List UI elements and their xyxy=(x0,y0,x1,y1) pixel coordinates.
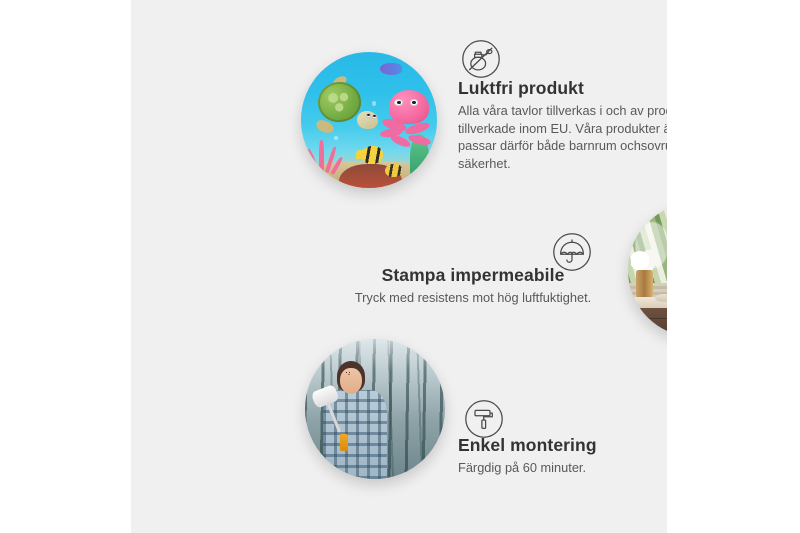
feature-body: Färgdig på 60 minuter. xyxy=(458,459,667,477)
sea-turtle-icon xyxy=(315,79,378,133)
tool-grip xyxy=(340,434,348,450)
feature-text-odour-free: Luktfri produkt Alla våra tavlor tillver… xyxy=(458,78,667,172)
woman-forest-artwork xyxy=(305,339,445,479)
feature-text-easy-mounting: Enkel montering Färgdig på 60 minuter. xyxy=(458,435,667,477)
feature-title: Enkel montering xyxy=(458,435,667,456)
woman-forest-mural-medallion xyxy=(305,339,445,479)
feature-body: Tryck med resistens mot hög luftfuktighe… xyxy=(327,289,619,307)
feature-body: Alla våra tavlor tillverkas i och av pro… xyxy=(458,102,667,172)
wood-cabinet xyxy=(636,308,667,337)
product-feature-graphic: Luktfri produkt Alla våra tavlor tillver… xyxy=(0,0,800,533)
woman-with-roller xyxy=(322,361,406,479)
bathroom-leaf-mural-medallion xyxy=(628,203,667,337)
coral-icon xyxy=(306,134,352,175)
octopus-icon xyxy=(380,90,434,155)
underwater-cartoon-medallion xyxy=(301,52,437,188)
feature-panel: Luktfri produkt Alla våra tavlor tillver… xyxy=(131,0,667,533)
underwater-artwork xyxy=(301,52,437,188)
feature-title: Stampa impermeabile xyxy=(327,265,619,286)
yellow-fish-icon xyxy=(361,146,383,164)
purple-fish-icon xyxy=(380,63,402,75)
feature-title: Luktfri produkt xyxy=(458,78,667,99)
feature-text-water-resistant: Stampa impermeabile Tryck med resistens … xyxy=(327,265,619,307)
yellow-fish-icon xyxy=(385,164,401,178)
bathroom-artwork xyxy=(628,203,667,337)
